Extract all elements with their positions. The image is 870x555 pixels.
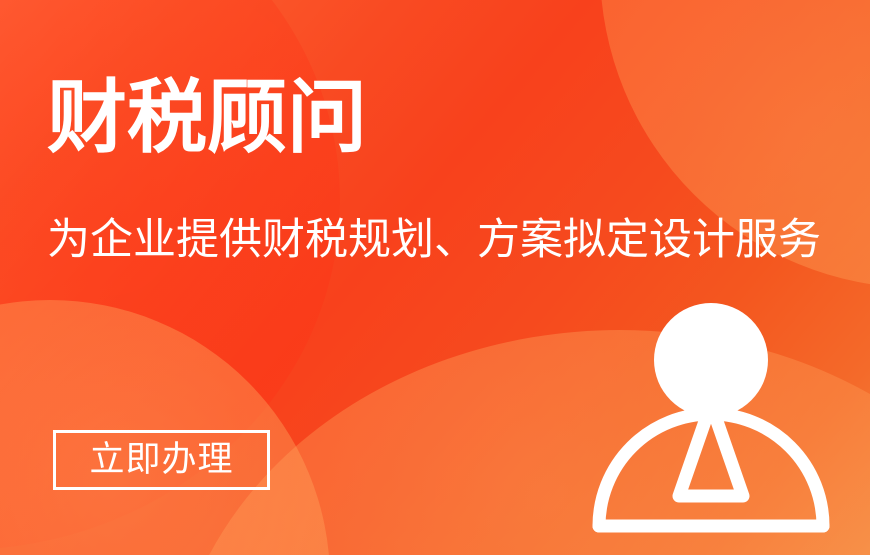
banner-content: 财税顾问 为企业提供财税规划、方案拟定设计服务 立即办理 [0, 0, 870, 555]
page-title: 财税顾问 [47, 78, 367, 158]
promo-banner: 财税顾问 为企业提供财税规划、方案拟定设计服务 立即办理 [0, 0, 870, 555]
person-body-icon [599, 414, 823, 526]
banner-subtitle: 为企业提供财税规划、方案拟定设计服务 [47, 219, 821, 262]
person-consultant-icon [588, 298, 838, 538]
apply-now-button[interactable]: 立即办理 [53, 430, 270, 490]
